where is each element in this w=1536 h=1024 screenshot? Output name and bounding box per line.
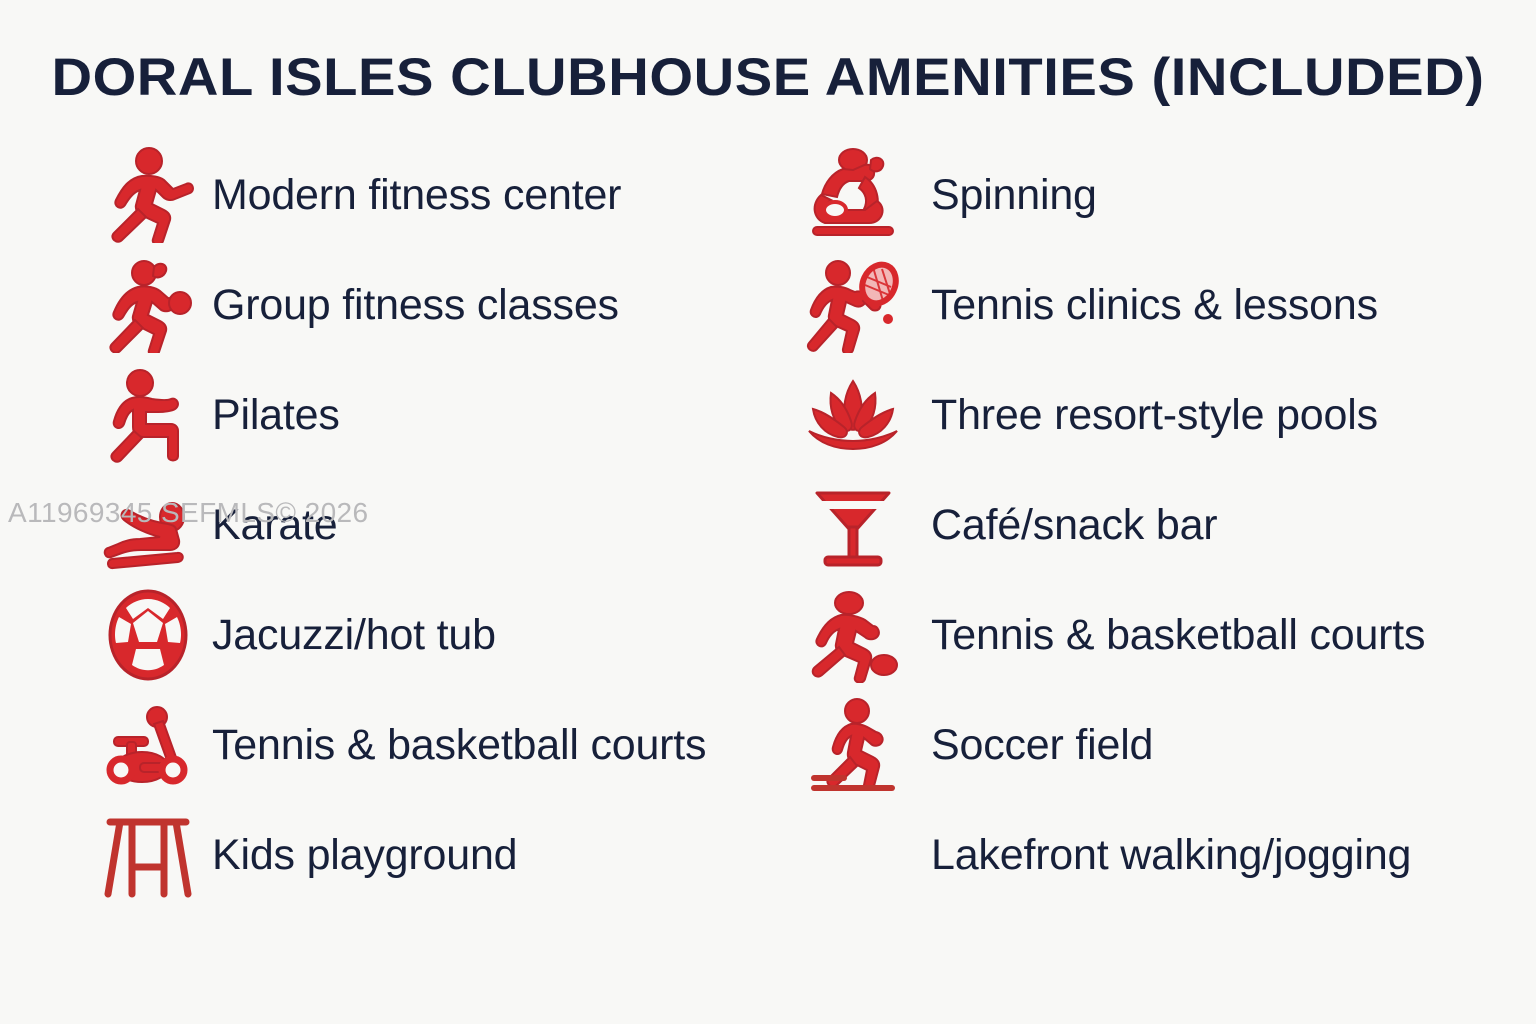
list-item-label: Tennis clinics & lessons: [931, 280, 1378, 330]
list-item-label: Three resort-style pools: [931, 390, 1378, 440]
list-item: Kids playground: [100, 800, 790, 910]
list-item-label: Spinning: [931, 170, 1097, 220]
no-icon-placeholder: [805, 805, 901, 905]
amenities-column-right: Spinning: [805, 140, 1495, 910]
list-item: Spinning: [805, 140, 1495, 250]
list-item: Karate: [100, 470, 790, 580]
lotus-flower-icon: [805, 365, 901, 465]
karate-floor-person-icon: [100, 475, 196, 575]
list-item-label: Pilates: [212, 390, 340, 440]
list-item-label: Lakefront walking/jogging: [931, 830, 1411, 880]
list-item: Modern fitness center: [100, 140, 790, 250]
spin-bike-icon: [805, 145, 901, 245]
amenities-column-left: Modern fitness center Group fitness clas…: [100, 140, 790, 910]
list-item: Three resort-style pools: [805, 360, 1495, 470]
tennis-player-icon: [805, 255, 901, 355]
list-item-label: Modern fitness center: [212, 170, 621, 220]
list-item: Lakefront walking/jogging: [805, 800, 1495, 910]
list-item: Tennis & basketball courts: [100, 690, 790, 800]
list-item: Jacuzzi/hot tub: [100, 580, 790, 690]
list-item: Soccer field: [805, 690, 1495, 800]
list-item: Pilates: [100, 360, 790, 470]
page-title: DORAL ISLES CLUBHOUSE AMENITIES (INCLUDE…: [0, 48, 1536, 108]
running-person-icon: [100, 145, 196, 245]
group-fitness-person-icon: [100, 255, 196, 355]
list-item-label: Group fitness classes: [212, 280, 619, 330]
soccer-player-icon: [805, 585, 901, 685]
pilates-person-icon: [100, 365, 196, 465]
list-item-label: Karate: [212, 500, 338, 550]
scooter-icon: [100, 695, 196, 795]
list-item-label: Tennis & basketball courts: [212, 720, 706, 770]
treadmill-walker-icon: [805, 695, 901, 795]
amenities-board: DORAL ISLES CLUBHOUSE AMENITIES (INCLUDE…: [0, 0, 1536, 1024]
soccer-ball-icon: [100, 585, 196, 685]
list-item-label: Café/snack bar: [931, 500, 1217, 550]
swing-set-icon: [100, 805, 196, 905]
cocktail-glass-icon: [805, 475, 901, 575]
list-item: Tennis & basketball courts: [805, 580, 1495, 690]
list-item: Group fitness classes: [100, 250, 790, 360]
list-item-label: Tennis & basketball courts: [931, 610, 1425, 660]
list-item: Café/snack bar: [805, 470, 1495, 580]
list-item: Tennis clinics & lessons: [805, 250, 1495, 360]
list-item-label: Soccer field: [931, 720, 1153, 770]
list-item-label: Jacuzzi/hot tub: [212, 610, 496, 660]
list-item-label: Kids playground: [212, 830, 517, 880]
